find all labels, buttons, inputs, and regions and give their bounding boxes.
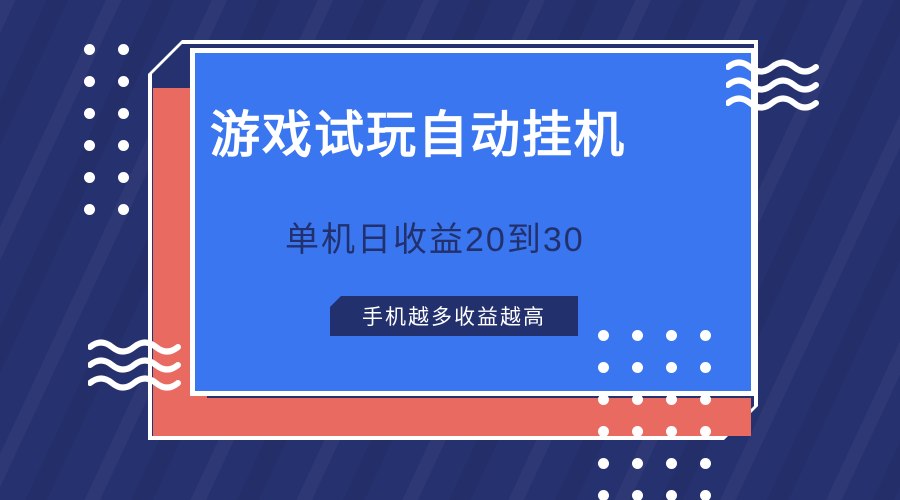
dot: [118, 76, 129, 87]
dot: [700, 490, 711, 500]
tagline-badge: 手机越多收益越高: [330, 296, 578, 336]
dot: [666, 330, 677, 341]
dot: [666, 362, 677, 373]
dot: [700, 458, 711, 469]
dot: [632, 394, 643, 405]
tagline-text: 手机越多收益越高: [362, 301, 546, 331]
dot-grid-bottom-right-decoration: [598, 330, 711, 500]
dot: [84, 204, 95, 215]
dot: [700, 426, 711, 437]
dot: [700, 394, 711, 405]
dot: [598, 458, 609, 469]
dot: [118, 108, 129, 119]
dot: [700, 362, 711, 373]
dot: [666, 458, 677, 469]
dot: [84, 140, 95, 151]
dot: [666, 394, 677, 405]
dot: [632, 458, 643, 469]
dot: [632, 330, 643, 341]
banner-title: 游戏试玩自动挂机: [210, 108, 750, 163]
dot: [598, 426, 609, 437]
wave-lines-bottom-left-icon: [88, 338, 184, 392]
dot: [666, 490, 677, 500]
banner-subtitle: 单机日收益20到30: [285, 212, 755, 261]
dot: [666, 426, 677, 437]
dot: [632, 490, 643, 500]
dot: [598, 490, 609, 500]
dot: [598, 394, 609, 405]
dot: [598, 362, 609, 373]
wave-lines-top-right-icon: [726, 58, 822, 112]
dot: [118, 172, 129, 183]
promotional-banner: 游戏试玩自动挂机 单机日收益20到30 手机越多收益越高: [0, 0, 900, 500]
dot: [632, 426, 643, 437]
dot: [84, 44, 95, 55]
dot: [632, 362, 643, 373]
dot: [118, 140, 129, 151]
dot: [700, 330, 711, 341]
dot: [84, 76, 95, 87]
dot: [118, 44, 129, 55]
dot: [84, 108, 95, 119]
dot: [118, 204, 129, 215]
dot: [598, 330, 609, 341]
dot-grid-left-decoration: [84, 44, 129, 215]
dot: [84, 172, 95, 183]
